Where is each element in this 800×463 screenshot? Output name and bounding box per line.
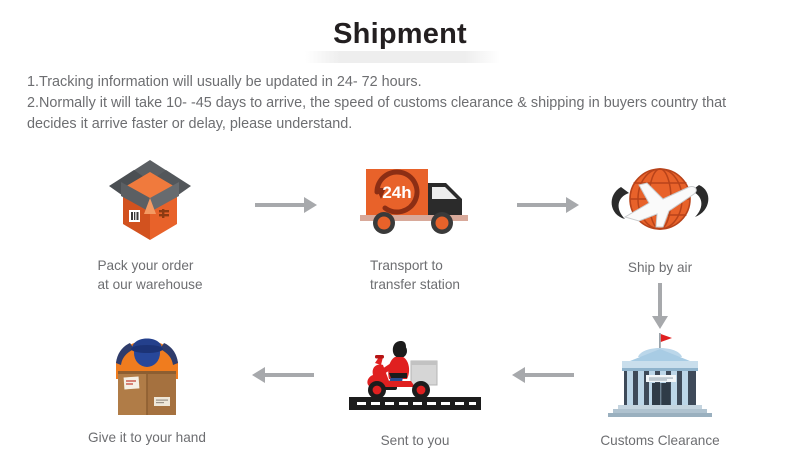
- arrow-pack-to-transport: [255, 198, 317, 212]
- open-box-art: [60, 150, 240, 246]
- scooter-courier-icon: [345, 327, 485, 419]
- step-air-caption-line1: Ship by air: [628, 260, 692, 275]
- intro-paragraph: 1.Tracking information will usually be u…: [27, 72, 777, 135]
- title-highlight-band: [305, 51, 500, 63]
- step-hand-caption: Give it to your hand: [88, 428, 206, 447]
- globe-airplane-art: [570, 152, 750, 248]
- arrow-shaft: [517, 203, 566, 207]
- step-sent-caption-line1: Sent to you: [381, 433, 450, 448]
- globe-airplane-icon: [605, 157, 715, 243]
- step-sent-caption: Sent to you: [381, 431, 450, 450]
- customs-building-art: [570, 325, 750, 421]
- step-transport-caption-line2: transfer station: [370, 277, 460, 292]
- delivery-truck-art: 24h: [325, 150, 505, 246]
- step-transport-caption: Transport to transfer station: [370, 256, 460, 294]
- step-customs-caption-line1: Customs Clearance: [600, 433, 719, 448]
- arrow-air-to-customs: [653, 283, 667, 329]
- step-sent-to-you: Sent to you: [325, 325, 505, 450]
- arrow-shaft: [525, 373, 574, 377]
- intro-line-1: 1.Tracking information will usually be u…: [27, 72, 777, 93]
- arrow-shaft: [255, 203, 304, 207]
- courier-handing-parcel-icon: [92, 323, 202, 417]
- step-hand-caption-line1: Give it to your hand: [88, 430, 206, 445]
- step-customs-caption: Customs Clearance: [600, 431, 719, 450]
- step-air-caption: Ship by air: [628, 258, 692, 277]
- arrow-shaft: [658, 283, 662, 316]
- arrow-shaft: [265, 373, 314, 377]
- step-pack-caption-line2: at our warehouse: [97, 277, 202, 292]
- intro-line-2: 2.Normally it will take 10- -45 days to …: [27, 93, 777, 135]
- scooter-courier-art: [325, 325, 505, 421]
- step-give-it-to-your-hand: Give it to your hand: [57, 322, 237, 447]
- step-transport-to-transfer-station: 24h Transport to transfer station: [325, 150, 505, 294]
- arrow-head-left-icon: [512, 367, 525, 383]
- step-pack-caption-line1: Pack your order: [97, 258, 193, 273]
- arrow-customs-to-sent: [512, 368, 574, 382]
- step-pack-your-order: Pack your order at our warehouse: [60, 150, 240, 294]
- arrow-head-right-icon: [304, 197, 317, 213]
- step-ship-by-air: Ship by air: [570, 152, 750, 277]
- delivery-truck-24h-icon: 24h: [350, 155, 480, 241]
- step-pack-caption: Pack your order at our warehouse: [97, 256, 202, 294]
- courier-handing-parcel-art: [57, 322, 237, 418]
- page-title-wrap: Shipment: [0, 18, 800, 64]
- arrow-sent-to-hand: [252, 368, 314, 382]
- step-transport-caption-line1: Transport to: [370, 258, 443, 273]
- customs-building-icon: [600, 327, 720, 419]
- step-customs-clearance: Customs Clearance: [570, 325, 750, 450]
- truck-24h-badge-text: 24h: [382, 183, 411, 202]
- page-title: Shipment: [0, 18, 800, 51]
- arrow-head-left-icon: [252, 367, 265, 383]
- open-box-icon: [95, 152, 205, 244]
